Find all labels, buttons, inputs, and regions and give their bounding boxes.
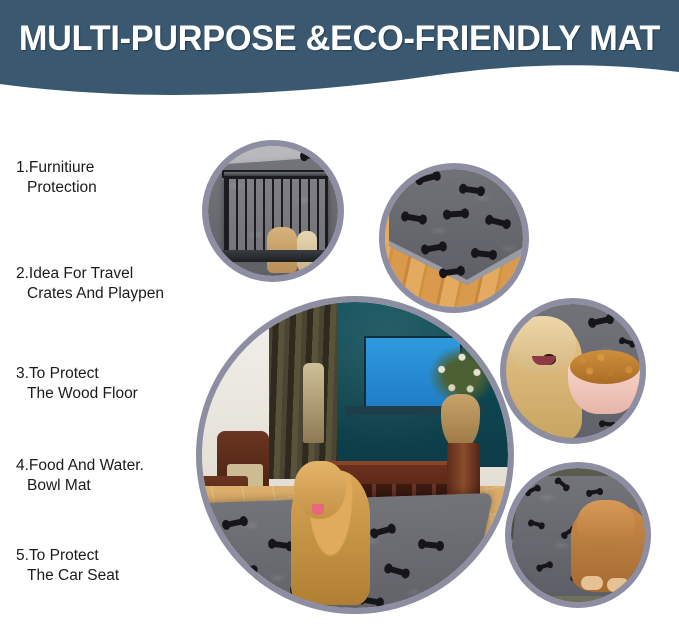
photo-crate-scene	[208, 146, 338, 276]
puppy-paw	[607, 578, 629, 592]
bone-icon	[304, 151, 323, 159]
photo-circle-crate	[202, 140, 344, 282]
puppy-paw	[581, 576, 603, 590]
bone-icon	[422, 541, 441, 549]
photo-circle-wood-floor	[379, 163, 529, 313]
photo-bowl-scene	[506, 304, 640, 438]
feature-4-line2: Bowl Mat	[16, 476, 144, 496]
feature-item-1: 1.Furnitiure Protection	[16, 158, 97, 198]
photo-circle-living-room	[196, 296, 514, 614]
crate-base	[222, 250, 330, 262]
feature-1-line2: Protection	[16, 178, 97, 198]
bone-icon	[320, 272, 331, 276]
photo-car-scene	[511, 468, 645, 602]
puppy-head	[577, 500, 635, 550]
feature-3-line1: 3.To Protect	[16, 364, 138, 384]
feature-2-line2: Crates And Playpen	[16, 284, 164, 304]
bone-icon	[501, 174, 520, 182]
feature-1-line1: 1.Furnitiure	[16, 158, 97, 178]
table-lamp	[303, 363, 324, 443]
page-title: MULTI-PURPOSE &ECO-FRIENDLY MAT	[7, 19, 672, 59]
header-banner: MULTI-PURPOSE &ECO-FRIENDLY MAT	[0, 0, 679, 104]
photo-wood-scene	[385, 169, 523, 307]
bone-icon	[440, 583, 459, 591]
feature-5-line2: The Car Seat	[16, 566, 119, 586]
photo-living-room-scene	[202, 302, 508, 608]
infographic-page: MULTI-PURPOSE &ECO-FRIENDLY MAT 1.Furnit…	[0, 0, 679, 642]
bone-icon	[408, 607, 426, 608]
bone-icon	[602, 421, 613, 426]
golden-retriever-tongue	[312, 504, 324, 515]
bone-icon	[475, 250, 494, 258]
feature-item-5: 5.To Protect The Car Seat	[16, 546, 119, 586]
photo-circle-car-seat	[505, 462, 651, 608]
feature-item-2: 2.Idea For Travel Crates And Playpen	[16, 264, 164, 304]
dog-head	[510, 316, 576, 374]
bone-icon	[226, 267, 237, 272]
photo-circle-food-bowl	[500, 298, 646, 444]
feature-item-4: 4.Food And Water. Bowl Mat	[16, 456, 144, 496]
feature-3-line2: The Wood Floor	[16, 384, 138, 404]
feature-4-line1: 4.Food And Water.	[16, 456, 144, 476]
feature-2-line1: 2.Idea For Travel	[16, 264, 164, 284]
kibble	[570, 350, 640, 384]
feature-5-line1: 5.To Protect	[16, 546, 119, 566]
bone-icon	[443, 268, 462, 276]
bone-icon	[447, 210, 465, 217]
crate-bars	[224, 176, 328, 254]
feature-item-3: 3.To Protect The Wood Floor	[16, 364, 138, 404]
